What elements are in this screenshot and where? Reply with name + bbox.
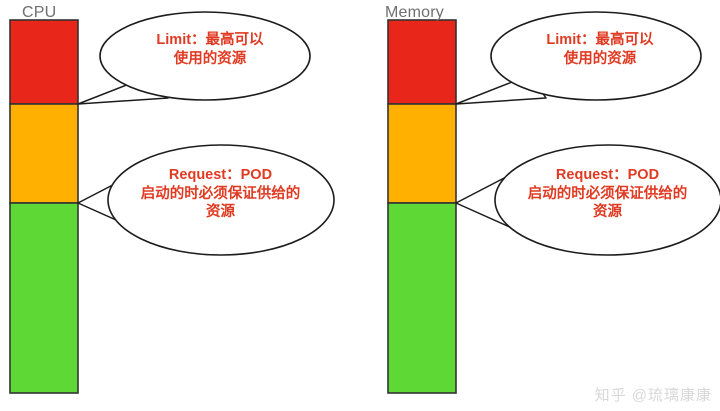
cpu-limit-callout-bubble [100,12,310,100]
cpu-limit-callout [78,12,310,104]
memory-base-segment [388,203,456,393]
cpu-limit-segment [10,20,78,104]
watermark: 知乎 @琉璃康康 [595,384,712,405]
cpu-group-label: CPU [22,4,56,22]
memory-request-callout [456,145,720,255]
diagram-svg [0,0,720,411]
memory-limit-callout-bubble [491,12,701,100]
memory-request-callout-bubble [495,145,720,255]
memory-limit-callout [456,12,701,104]
memory-request-segment [388,104,456,203]
cpu-resource-bar [10,20,78,393]
memory-group-label: Memory [385,4,444,22]
memory-limit-segment [388,20,456,104]
diagram-canvas: CPU Memory Limit：最高可以 使用的资源 Request：POD … [0,0,720,411]
memory-resource-bar [388,20,456,393]
cpu-request-callout [78,145,334,255]
cpu-request-callout-bubble [108,145,334,255]
cpu-request-segment [10,104,78,203]
cpu-base-segment [10,203,78,393]
